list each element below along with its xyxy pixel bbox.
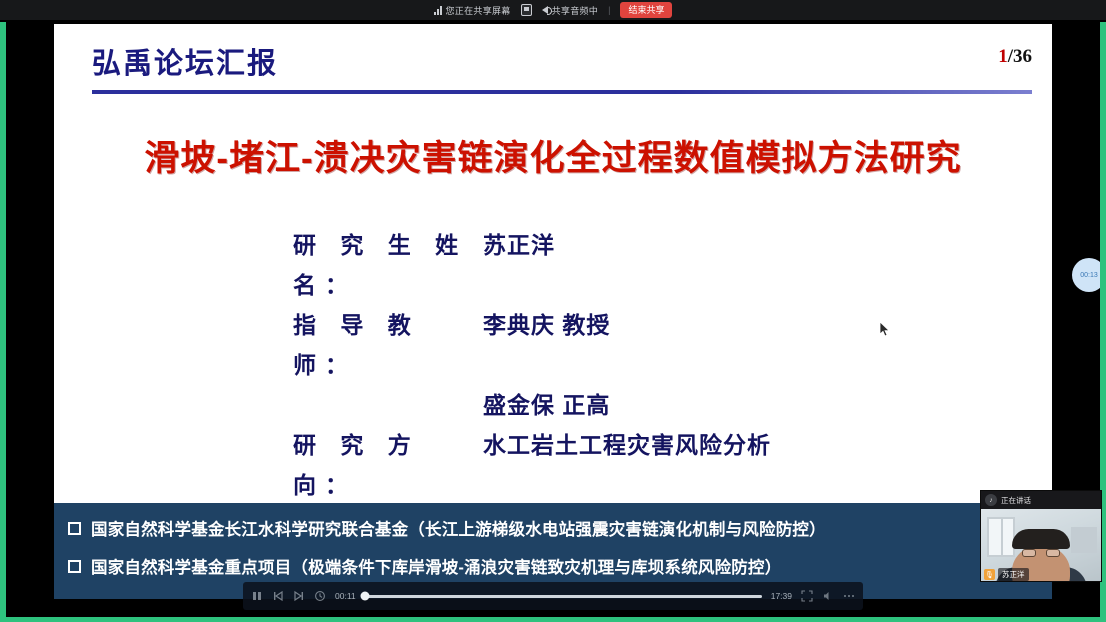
header-rule xyxy=(92,90,1032,94)
slide-header: 弘禹论坛汇报 1/36 xyxy=(54,24,1052,98)
share-border-left xyxy=(0,0,6,622)
info-value: 李典庆 教授 xyxy=(483,305,813,385)
funding-text: 国家自然科学基金重点项目（极端条件下库岸滑坡-涌浪灾害链致灾机理与库坝系统风险防… xyxy=(91,554,781,578)
stop-sharing-button[interactable]: 结束共享 xyxy=(620,2,672,18)
page-current: 1 xyxy=(998,46,1008,67)
info-row-research-field: 研 究 方 向： 水工岩土工程灾害风险分析 xyxy=(54,425,1052,505)
person-hair xyxy=(1012,529,1070,549)
mouse-cursor-icon xyxy=(880,322,892,338)
sharing-status: 您正在共享屏幕 xyxy=(434,4,511,17)
speaker-icon xyxy=(542,6,548,14)
info-value: 盛金保 正高 xyxy=(483,385,813,425)
audio-share-label: 共享音频中 xyxy=(552,4,599,17)
microphone-icon[interactable]: 🎙 xyxy=(984,569,995,580)
screen-share-icon[interactable] xyxy=(521,4,532,16)
square-bullet-icon xyxy=(68,560,81,573)
info-label xyxy=(293,385,483,425)
info-row-advisor: 指 导 教 师： 李典庆 教授 xyxy=(54,305,1052,385)
floating-timer-label: 00:13 xyxy=(1080,272,1098,279)
audio-share-status: 共享音频中 xyxy=(542,4,599,17)
speaking-label: 正在讲话 xyxy=(1001,495,1031,506)
funding-text: 国家自然科学基金长江水科学研究联合基金（长江上游梯级水电站强震灾害链演化机制与风… xyxy=(91,516,826,540)
slide-header-title: 弘禹论坛汇报 xyxy=(92,40,278,82)
presentation-slide: 弘禹论坛汇报 1/36 滑坡-堵江-溃决灾害链演化全过程数值模拟方法研究 研 究… xyxy=(54,24,1052,599)
remaining-time: 17:39 xyxy=(771,591,792,601)
previous-icon[interactable] xyxy=(272,590,284,602)
slide-main-title: 滑坡-堵江-溃决灾害链演化全过程数值模拟方法研究 xyxy=(54,130,1052,181)
progress-scrubber[interactable] xyxy=(365,595,762,598)
info-value: 苏正洋 xyxy=(483,225,813,305)
info-value: 水工岩土工程灾害风险分析 xyxy=(483,425,813,505)
slide-page-number: 1/36 xyxy=(998,46,1032,68)
signal-bars-icon xyxy=(434,6,442,15)
info-label: 指 导 教 师： xyxy=(293,305,483,385)
participant-video-tile[interactable]: ♪ 正在讲话 🎙 苏正洋 xyxy=(980,490,1102,582)
speaking-icon: ♪ xyxy=(985,494,997,506)
screen-share-window: 您正在共享屏幕 共享音频中 | 结束共享 弘禹论坛汇报 1/36 滑坡-堵江-溃… xyxy=(0,0,1106,622)
info-label: 研 究 方 向： xyxy=(293,425,483,505)
video-tile-namebar: 🎙 苏正洋 xyxy=(981,568,1101,581)
info-row-student: 研 究 生 姓 名： 苏正洋 xyxy=(54,225,1052,305)
video-tile-header: ♪ 正在讲话 xyxy=(981,491,1101,509)
info-row-advisor-second: 盛金保 正高 xyxy=(54,385,1052,425)
funding-item-2: 国家自然科学基金重点项目（极端条件下库岸滑坡-涌浪灾害链致灾机理与库坝系统风险防… xyxy=(54,547,1052,585)
square-bullet-icon xyxy=(68,522,81,535)
next-icon[interactable] xyxy=(293,590,305,602)
funding-item-1: 国家自然科学基金长江水科学研究联合基金（长江上游梯级水电站强震灾害链演化机制与风… xyxy=(54,509,1052,547)
media-player-controls[interactable]: 00:11 17:39 xyxy=(243,582,863,610)
background-shelf xyxy=(1071,527,1097,553)
volume-icon[interactable] xyxy=(822,590,834,602)
sharing-status-label: 您正在共享屏幕 xyxy=(446,4,511,17)
scrubber-knob[interactable] xyxy=(360,592,369,601)
more-options-icon[interactable] xyxy=(843,590,855,602)
playback-speed-icon[interactable] xyxy=(314,590,326,602)
elapsed-time: 00:11 xyxy=(335,591,356,601)
participant-name: 苏正洋 xyxy=(998,568,1029,581)
fullscreen-icon[interactable] xyxy=(801,590,813,602)
page-total: /36 xyxy=(1008,46,1032,67)
pause-icon[interactable] xyxy=(251,590,263,602)
slide-info-block: 研 究 生 姓 名： 苏正洋 指 导 教 师： 李典庆 教授 盛金保 正高 研 … xyxy=(54,225,1052,505)
toolbar-separator: | xyxy=(608,5,610,15)
screen-share-toolbar: 您正在共享屏幕 共享音频中 | 结束共享 xyxy=(0,0,1106,20)
glasses-icon xyxy=(1022,549,1060,557)
share-border-bottom xyxy=(0,617,1106,622)
background-window xyxy=(987,517,1015,557)
info-label: 研 究 生 姓 名： xyxy=(293,225,483,305)
